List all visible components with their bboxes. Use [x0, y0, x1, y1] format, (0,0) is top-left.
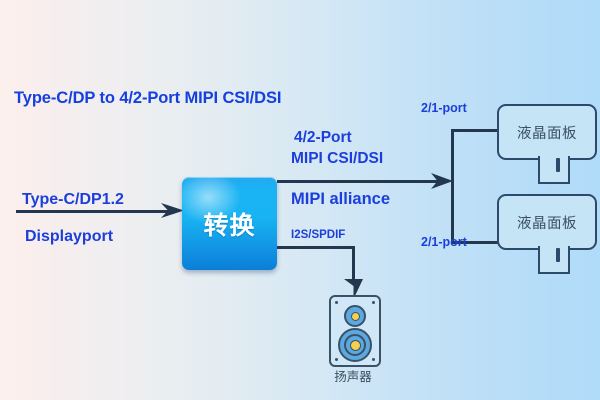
panel-label: 液晶面板 [517, 122, 577, 143]
audio-wire-horizontal [277, 246, 354, 249]
speaker-tweeter-core [351, 312, 360, 321]
video-output-label-line3: MIPI alliance [291, 190, 390, 209]
panel-stand [538, 156, 570, 184]
speaker-screw-dot [372, 301, 375, 304]
input-label-line2: Displayport [25, 228, 113, 246]
speaker-woofer-core [350, 340, 361, 351]
panel-stand-nub [556, 158, 560, 172]
diagram-canvas: Type-C/DP to 4/2-Port MIPI CSI/DSI Type-… [0, 0, 600, 400]
speaker-icon[interactable] [329, 295, 381, 367]
video-output-label-line1: 4/2-Port [294, 129, 352, 147]
converter-label: 转换 [203, 206, 255, 242]
speaker-woofer [338, 328, 372, 362]
port-label-top: 2/1-port [421, 101, 467, 115]
lcd-panel-icon[interactable]: 液晶面板 [497, 194, 597, 250]
panel-label: 液晶面板 [517, 212, 577, 233]
input-label-line1: Type-C/DP1.2 [22, 191, 124, 209]
speaker-screw-dot [335, 358, 338, 361]
port-label-bottom: 2/1-port [421, 235, 467, 249]
speaker-tweeter [344, 305, 366, 327]
speaker-woofer-inner-ring [344, 334, 366, 356]
converter-block[interactable]: 转换 [182, 177, 277, 270]
lcd-panel-icon[interactable]: 液晶面板 [497, 104, 597, 160]
video-output-wire [277, 180, 442, 183]
diagram-title: Type-C/DP to 4/2-Port MIPI CSI/DSI [14, 89, 281, 108]
speaker-screw-dot [372, 358, 375, 361]
audio-output-label: I2S/SPDIF [291, 229, 345, 241]
panel-bus-top-branch [451, 129, 498, 132]
speaker-screw-dot [335, 301, 338, 304]
input-arrow-line [16, 210, 174, 213]
panel-stand [538, 246, 570, 274]
video-output-label-line2: MIPI CSI/DSI [291, 150, 383, 168]
speaker-label: 扬声器 [329, 366, 377, 385]
panel-bus-vertical [451, 131, 454, 244]
panel-stand-nub [556, 248, 560, 262]
